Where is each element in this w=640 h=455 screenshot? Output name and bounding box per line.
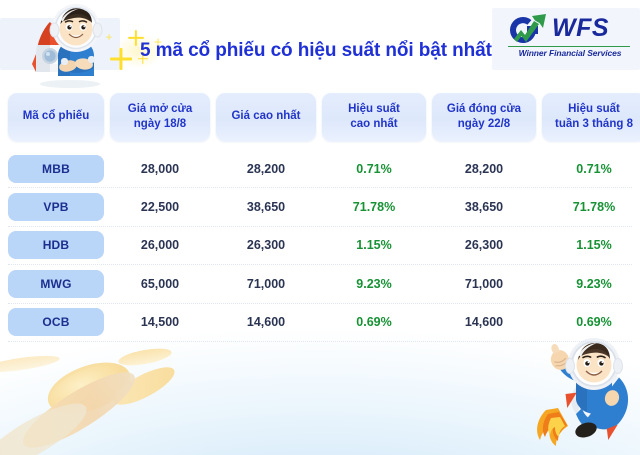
column-header-close: Giá đóng cửangày 22/8 xyxy=(432,93,536,141)
wfs-logo-wordmark: WFS xyxy=(552,14,609,43)
astronaut-with-rocket-icon xyxy=(18,2,114,90)
wfs-logo-tagline: Winner Financial Services xyxy=(508,48,632,58)
cell-perf-week: 0.69% xyxy=(542,315,640,329)
cell-high: 14,600 xyxy=(216,315,316,329)
cell-close: 26,300 xyxy=(432,238,536,252)
cell-high: 28,200 xyxy=(216,162,316,176)
column-header-perf-high: Hiệu suấtcao nhất xyxy=(322,93,426,141)
cell-high: 71,000 xyxy=(216,277,316,291)
decor-blob xyxy=(117,345,173,368)
cell-high: 38,650 xyxy=(216,200,316,214)
cell-perf-high: 1.15% xyxy=(322,238,426,252)
table-row: HDB26,00026,3001.15%26,3001.15% xyxy=(8,227,632,265)
ticker-badge[interactable]: MBB xyxy=(8,155,104,183)
column-header-open: Giá mở cửangày 18/8 xyxy=(110,93,210,141)
ticker-badge[interactable]: VPB xyxy=(8,193,104,221)
table-body: MBB28,00028,2000.71%28,2000.71%VPB22,500… xyxy=(8,150,632,342)
cell-perf-high: 0.71% xyxy=(322,162,426,176)
ticker-badge[interactable]: HDB xyxy=(8,231,104,259)
cell-perf-week: 71.78% xyxy=(542,200,640,214)
infographic-canvas: 5 mã cổ phiếu có hiệu suất nổi bật nhất … xyxy=(0,0,640,455)
column-header-high: Giá cao nhất xyxy=(216,93,316,141)
cell-open: 28,000 xyxy=(110,162,210,176)
astronaut-riding-rocket-icon xyxy=(524,336,636,452)
cell-perf-week: 0.71% xyxy=(542,162,640,176)
cell-perf-high: 9.23% xyxy=(322,277,426,291)
decor-blob xyxy=(0,353,60,376)
cell-open: 22,500 xyxy=(110,200,210,214)
cell-close: 71,000 xyxy=(432,277,536,291)
cell-perf-high: 0.69% xyxy=(322,315,426,329)
table-header-row: Mã cổ phiếu Giá mở cửangày 18/8 Giá cao … xyxy=(8,90,632,144)
table-row: MBB28,00028,2000.71%28,2000.71% xyxy=(8,150,632,188)
wfs-logo-mark-icon xyxy=(506,10,550,50)
page-title: 5 mã cổ phiếu có hiệu suất nổi bật nhất xyxy=(140,40,490,62)
cell-perf-week: 1.15% xyxy=(542,238,640,252)
cell-close: 28,200 xyxy=(432,162,536,176)
logo-divider xyxy=(508,46,630,47)
cell-perf-week: 9.23% xyxy=(542,277,640,291)
decor-blob xyxy=(0,392,94,455)
table-row: VPB22,50038,65071.78%38,65071.78% xyxy=(8,188,632,226)
table-row: MWG65,00071,0009.23%71,0009.23% xyxy=(8,265,632,303)
decor-blob xyxy=(41,353,137,424)
table-row: OCB14,50014,6000.69%14,6000.69% xyxy=(8,304,632,342)
cell-open: 14,500 xyxy=(110,315,210,329)
column-header-perf-week: Hiệu suấttuần 3 tháng 8 xyxy=(542,93,640,141)
ticker-badge[interactable]: OCB xyxy=(8,308,104,336)
wfs-logo: WFS Winner Financial Services xyxy=(506,8,632,66)
performance-table: Mã cổ phiếu Giá mở cửangày 18/8 Giá cao … xyxy=(8,90,632,342)
decor-blob xyxy=(14,360,143,455)
cell-open: 26,000 xyxy=(110,238,210,252)
cell-close: 14,600 xyxy=(432,315,536,329)
ticker-badge[interactable]: MWG xyxy=(8,270,104,298)
column-header-ticker: Mã cổ phiếu xyxy=(8,93,104,141)
cell-high: 26,300 xyxy=(216,238,316,252)
decor-blob xyxy=(109,360,179,411)
cell-open: 65,000 xyxy=(110,277,210,291)
cell-close: 38,650 xyxy=(432,200,536,214)
cell-perf-high: 71.78% xyxy=(322,200,426,214)
